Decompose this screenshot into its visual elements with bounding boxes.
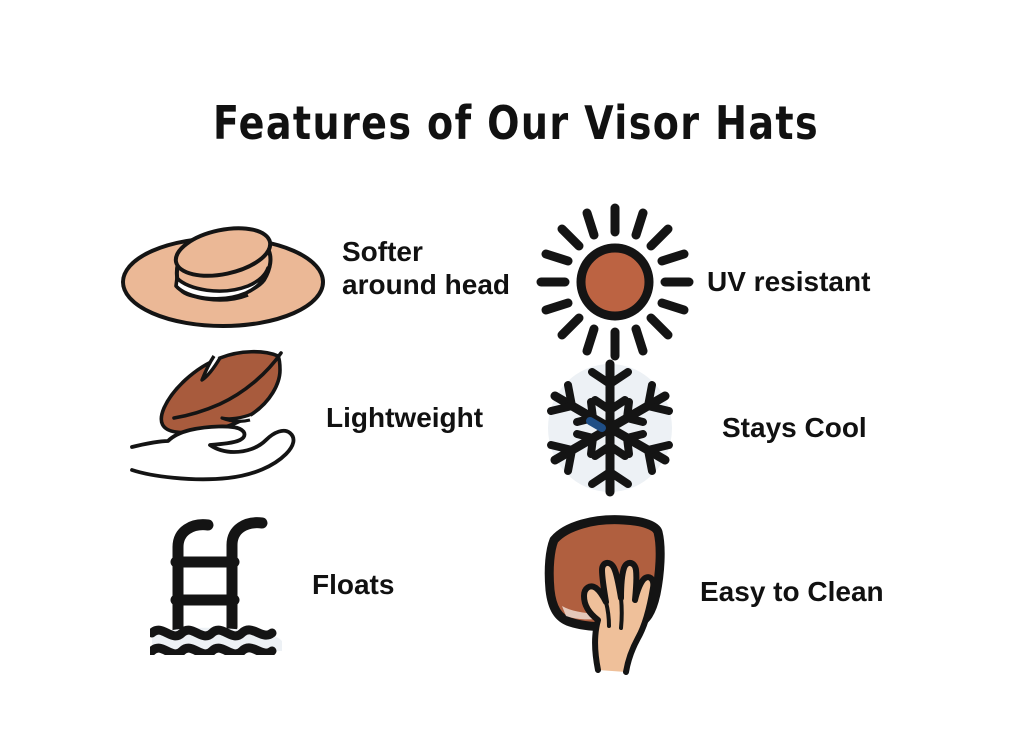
feature-label: Floats — [312, 569, 394, 601]
feature-floats: Floats — [150, 515, 394, 655]
feature-easy-to-clean: Easy to Clean — [532, 510, 884, 675]
infographic-page: Features of Our Visor Hats Softer aro — [0, 0, 1032, 729]
feature-label: Lightweight — [326, 402, 483, 434]
feature-label: Easy to Clean — [700, 576, 884, 608]
hand-wiping-cloth-icon — [532, 510, 682, 675]
leaf-on-hand-icon — [128, 348, 318, 488]
sun-icon — [535, 202, 695, 362]
feature-lightweight: Lightweight — [128, 348, 483, 488]
feature-stays-cool: Stays Cool — [540, 358, 867, 498]
feature-softer-around-head: Softer around head — [118, 206, 510, 331]
feature-label: UV resistant — [707, 266, 870, 298]
sun-hat-icon — [118, 206, 328, 331]
feature-label: Stays Cool — [722, 412, 867, 444]
pool-ladder-water-icon — [150, 515, 290, 655]
snowflake-icon — [540, 358, 680, 498]
page-title: Features of Our Visor Hats — [41, 96, 990, 150]
feature-grid: Softer around head Lightweight — [0, 190, 1032, 710]
feature-label: Softer around head — [342, 236, 510, 301]
feature-uv-resistant: UV resistant — [535, 202, 870, 362]
